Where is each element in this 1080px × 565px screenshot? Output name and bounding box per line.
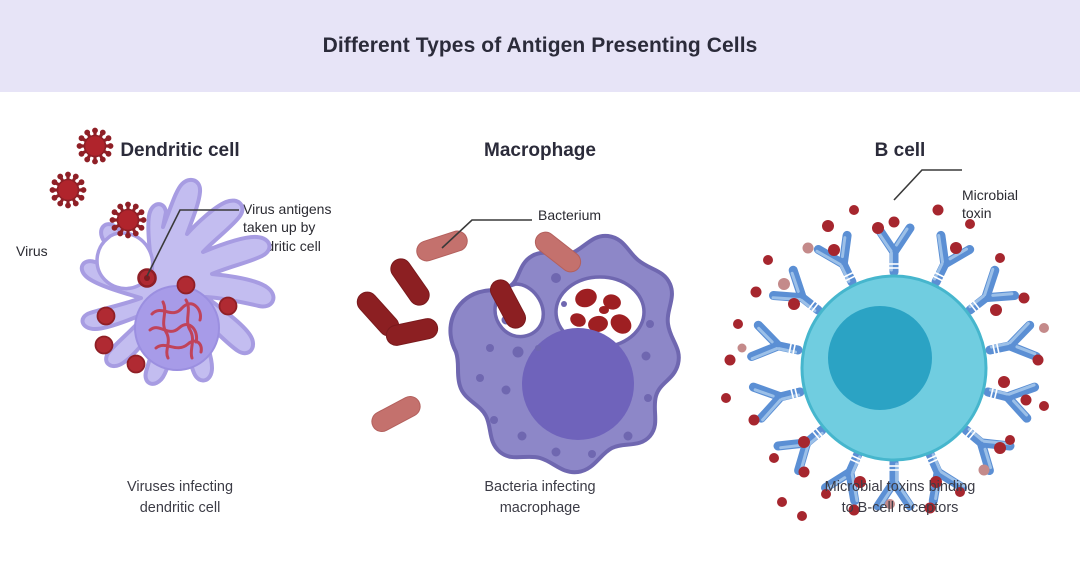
caption-b-cell: Microbial toxins binding to B-cell recep… — [720, 477, 1080, 519]
panel-b-cell: B cell Microbial toxin — [720, 92, 1080, 565]
bacterium-rod — [414, 228, 470, 263]
bacterium-rod — [387, 255, 433, 309]
figure-title: Different Types of Antigen Presenting Ce… — [323, 34, 758, 58]
panel-dendritic-cell: Dendritic cell Virus Virus antigens take… — [0, 92, 360, 565]
panel-row: Dendritic cell Virus Virus antigens take… — [0, 92, 1080, 565]
virus-particle — [77, 128, 114, 165]
bacterium-rod — [368, 393, 423, 435]
caption-macrophage: Bacteria infecting macrophage — [360, 477, 720, 519]
caption-dendritic-cell: Viruses infecting dendritic cell — [0, 477, 360, 519]
title-banner: Different Types of Antigen Presenting Ce… — [0, 0, 1080, 92]
virus-particle — [50, 172, 87, 209]
panel-macrophage: Macrophage Bacterium — [360, 92, 720, 565]
antigen-presenting-cells-figure: Different Types of Antigen Presenting Ce… — [0, 0, 1080, 565]
